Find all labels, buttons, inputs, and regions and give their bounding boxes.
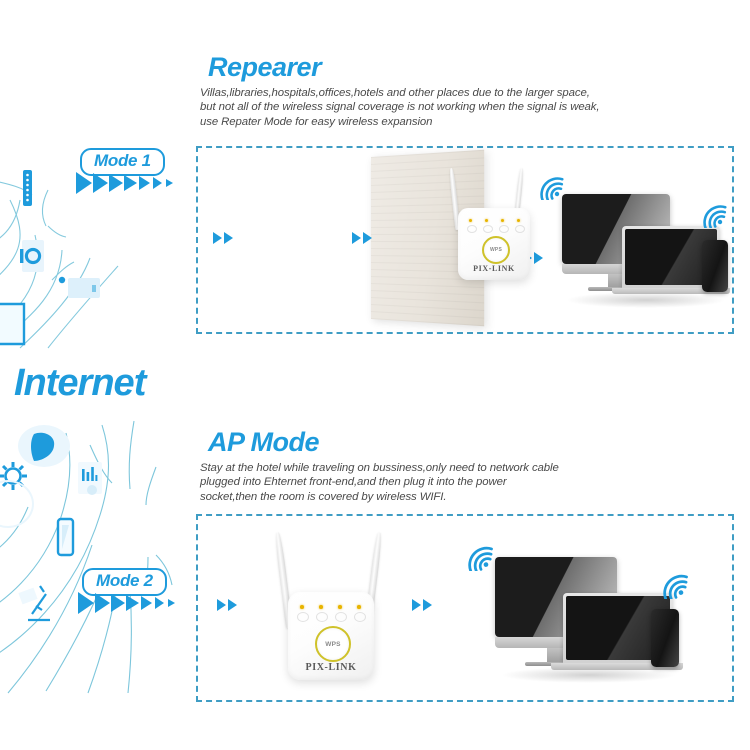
led-indicator: [300, 605, 304, 609]
led-indicator: [517, 219, 520, 222]
flow-arrow-pair: [217, 599, 237, 611]
wifi-signal-icon: [663, 565, 699, 599]
flow-arrow-pair: [213, 232, 233, 244]
cluster-shadow: [566, 292, 726, 308]
right-triangle-arrow-icon: [95, 593, 110, 613]
right-triangle-arrow-icon: [228, 599, 237, 611]
right-triangle-arrow-icon: [224, 232, 233, 244]
led-indicator: [501, 219, 504, 222]
wps-button[interactable]: WPS: [315, 626, 351, 662]
ap-section-description: Stay at the hotel while traveling on bus…: [200, 461, 700, 504]
camera-icon: [18, 243, 50, 271]
led-glyph: [335, 612, 347, 622]
signal-bar-icon: [23, 170, 32, 206]
internet-label: Internet: [14, 362, 145, 405]
microscope-icon: [16, 580, 62, 628]
right-triangle-arrow-icon: [352, 232, 361, 244]
right-triangle-arrow-icon: [126, 595, 139, 611]
right-triangle-arrow-icon: [109, 174, 123, 192]
led-glyph: [499, 225, 509, 233]
led-indicator: [469, 219, 472, 222]
document-icon: [0, 300, 40, 348]
repeater-section-description: Villas,libraries,hospitals,offices,hotel…: [200, 86, 710, 129]
wps-button[interactable]: WPS: [482, 236, 510, 264]
repeater-device-top: WPS PIX-LINK: [438, 168, 536, 286]
right-triangle-arrow-icon: [363, 232, 372, 244]
bar-chart-icon: [80, 465, 104, 497]
right-triangle-arrow-icon: [93, 173, 108, 193]
led-indicator: [319, 605, 323, 609]
repeater-section-title: Repearer: [208, 52, 321, 83]
right-triangle-arrow-icon: [139, 176, 150, 190]
right-triangle-arrow-icon: [166, 179, 173, 187]
right-triangle-arrow-icon: [141, 596, 152, 610]
led-glyph: [297, 612, 309, 622]
device-brand-label: PIX-LINK: [458, 264, 530, 273]
right-triangle-arrow-icon: [78, 592, 94, 614]
led-glyph: [515, 225, 525, 233]
right-triangle-arrow-icon: [111, 594, 125, 612]
mode-2-arrow-row: [78, 592, 175, 614]
right-triangle-arrow-icon: [423, 599, 432, 611]
infographic-canvas: Internet Repearer Villas,libraries,hospi…: [0, 0, 750, 750]
led-indicator: [357, 605, 361, 609]
right-triangle-arrow-icon: [217, 599, 226, 611]
device-brand-label: PIX-LINK: [288, 662, 374, 673]
led-glyph: [483, 225, 493, 233]
right-triangle-arrow-icon: [124, 175, 137, 191]
led-glyph: [354, 612, 366, 622]
right-triangle-arrow-icon: [412, 599, 421, 611]
right-triangle-arrow-icon: [155, 597, 164, 609]
led-glyph: [467, 225, 477, 233]
led-glyph: [316, 612, 328, 622]
flow-arrow-pair: [352, 232, 372, 244]
mobile-phone-icon: [55, 517, 79, 561]
device-body: WPS PIX-LINK: [288, 592, 374, 680]
client-devices-cluster-bottom: [493, 555, 683, 685]
right-triangle-arrow-icon: [76, 172, 92, 194]
right-triangle-arrow-icon: [213, 232, 222, 244]
led-indicator: [485, 219, 488, 222]
repeater-device-bottom: WPS PIX-LINK: [258, 530, 398, 682]
smartphone: [651, 609, 679, 667]
wps-button-label: WPS: [490, 247, 502, 253]
ap-section-title: AP Mode: [208, 427, 319, 458]
wps-button-label: WPS: [325, 641, 340, 648]
battery-icon: [92, 283, 101, 294]
smartphone: [702, 240, 728, 292]
right-triangle-arrow-icon: [153, 177, 162, 189]
flow-arrow-pair: [412, 599, 432, 611]
wifi-signal-icon: [703, 196, 737, 228]
mode-1-arrow-row: [76, 172, 173, 194]
right-triangle-arrow-icon: [168, 599, 175, 607]
led-indicator: [338, 605, 342, 609]
device-body: WPS PIX-LINK: [458, 208, 530, 280]
